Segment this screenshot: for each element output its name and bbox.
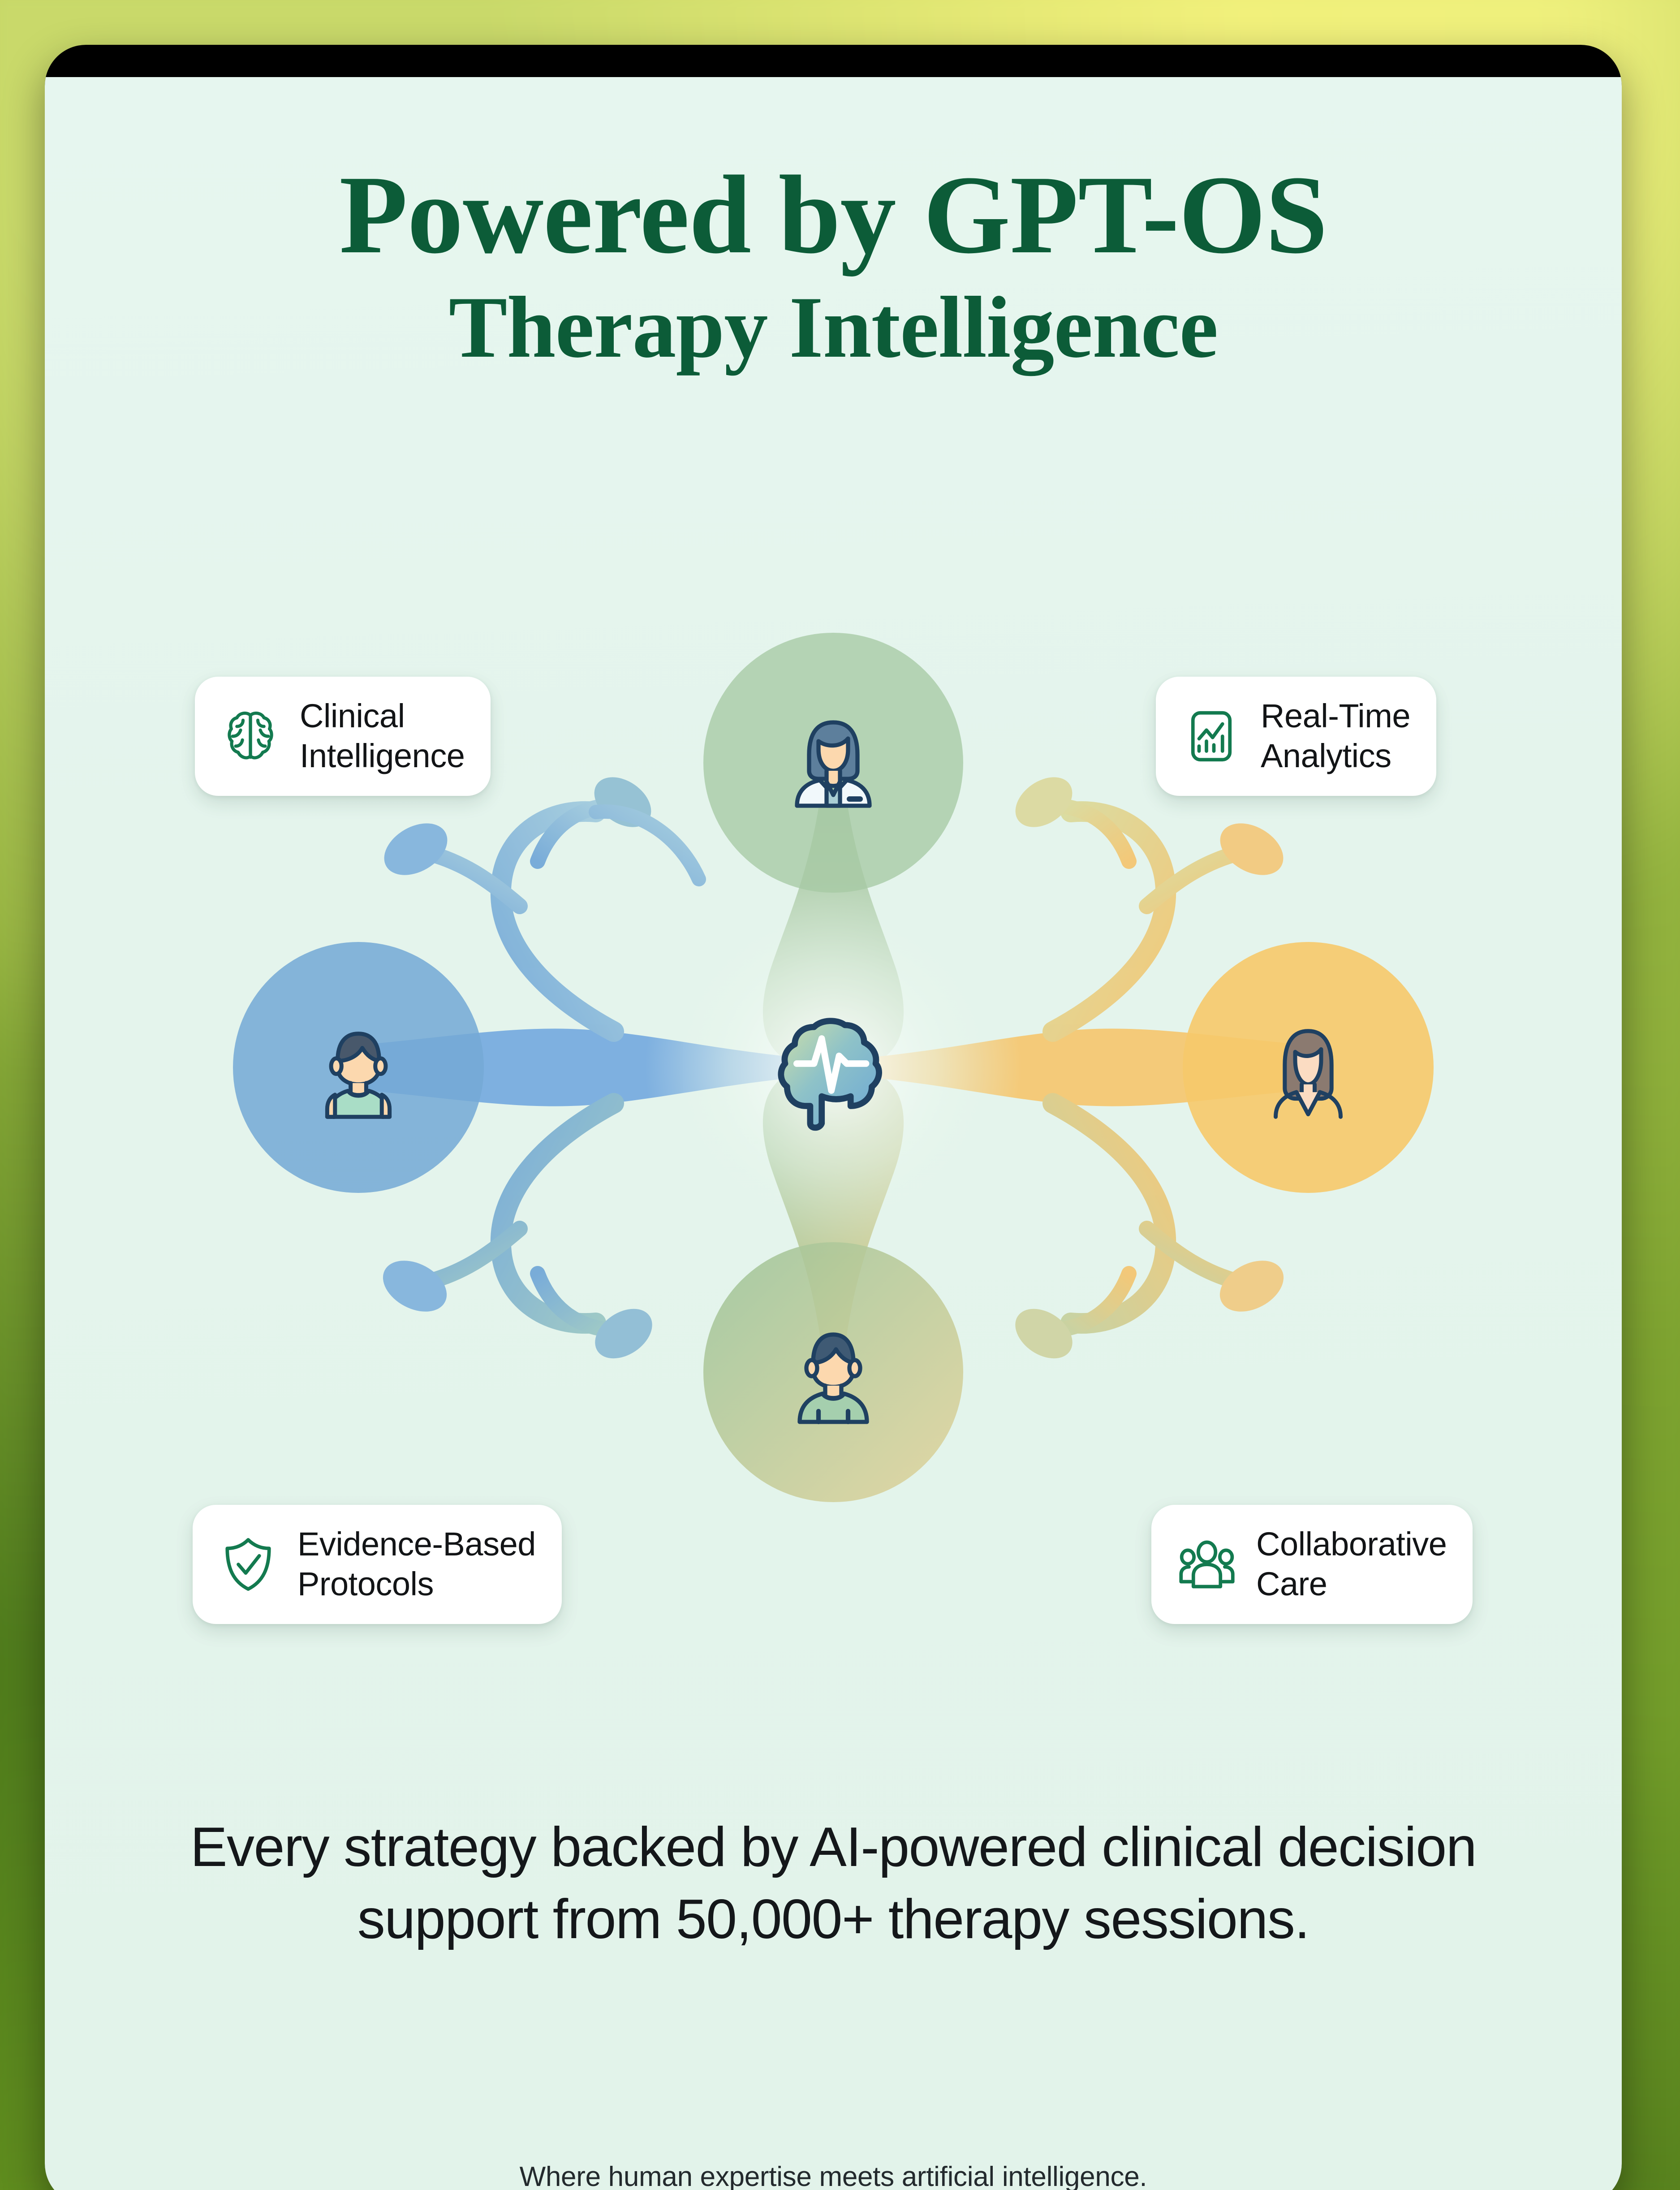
page-title: Powered by GPT-OS Therapy Intelligence <box>45 158 1622 372</box>
young-man-avatar <box>703 1242 963 1502</box>
feature-chip-evidence-based-protocols[interactable]: Evidence-Based Protocols <box>193 1505 562 1624</box>
feature-label: Clinical Intelligence <box>300 696 465 776</box>
youth-avatar <box>233 942 484 1193</box>
body-copy: Every strategy backed by AI-powered clin… <box>161 1811 1505 1956</box>
feature-label: Collaborative Care <box>1256 1525 1447 1604</box>
feature-chip-clinical-intelligence[interactable]: Clinical Intelligence <box>195 677 491 796</box>
tagline: Where human expertise meets artificial i… <box>161 2161 1505 2190</box>
poster-card: Powered by GPT-OS Therapy Intelligence <box>45 45 1622 2190</box>
poster-screen: Powered by GPT-OS Therapy Intelligence <box>45 77 1622 2190</box>
people-group-icon <box>1177 1535 1236 1594</box>
shield-check-icon <box>219 1535 278 1594</box>
feature-chip-collaborative-care[interactable]: Collaborative Care <box>1151 1505 1473 1624</box>
headline-line-2: Therapy Intelligence <box>45 283 1622 372</box>
adult-woman-avatar <box>1183 942 1434 1193</box>
feature-chip-real-time-analytics[interactable]: Real-Time Analytics <box>1156 677 1436 796</box>
feature-label: Real-Time Analytics <box>1261 696 1410 776</box>
feature-label: Evidence-Based Protocols <box>297 1525 536 1604</box>
brain-icon <box>221 707 280 766</box>
clinician-avatar <box>703 633 963 893</box>
bar-chart-icon <box>1182 707 1241 766</box>
headline-line-1: Powered by GPT-OS <box>45 158 1622 272</box>
